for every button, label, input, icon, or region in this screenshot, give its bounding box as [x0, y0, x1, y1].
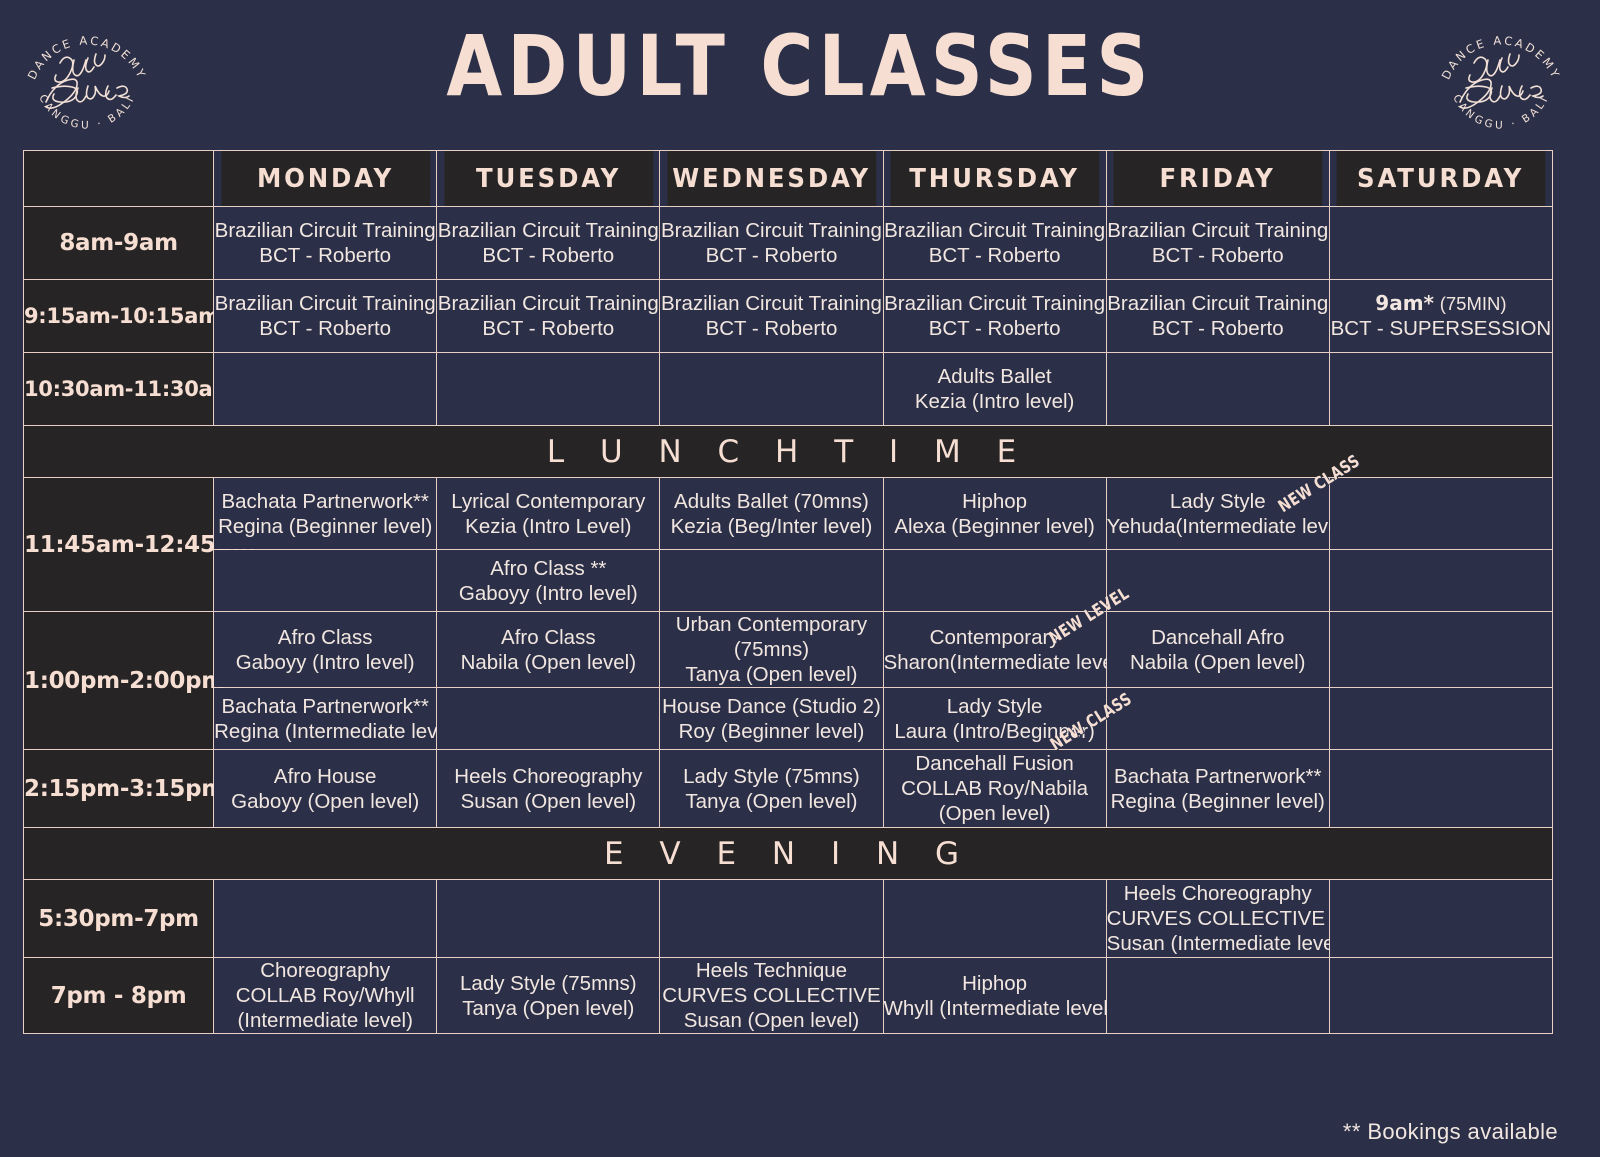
class-title: Contemporary — [884, 625, 1106, 650]
class-title: Bachata Partnerwork** — [1107, 764, 1329, 789]
class-cell-empty — [437, 880, 660, 958]
class-teacher: BCT - Roberto — [884, 243, 1106, 268]
poster-header: DANCE ACADEMY CANGGU · BALI — [0, 0, 1600, 150]
class-title: Brazilian Circuit Training — [660, 218, 882, 243]
day-header-friday: FRIDAY — [1113, 151, 1323, 207]
class-title: Hiphop — [884, 489, 1106, 514]
class-teacher: BCT - Roberto — [1107, 316, 1329, 341]
class-level: (Intermediate level) — [214, 1008, 436, 1033]
class-teacher: BCT - SUPERSESSION — [1330, 316, 1552, 341]
class-cell-empty — [1329, 207, 1552, 280]
table-row: Afro Class ** Gaboyy (Intro level) — [24, 550, 1553, 612]
class-title: Choreography — [214, 958, 436, 983]
class-teacher: BCT - Roberto — [437, 243, 659, 268]
table-row: 8am-9am Brazilian Circuit Training BCT -… — [24, 207, 1553, 280]
class-cell-empty — [1329, 958, 1552, 1034]
class-cell-empty — [1329, 880, 1552, 958]
class-teacher: Tanya (Open level) — [660, 662, 882, 687]
class-duration: (75mns) — [660, 637, 882, 662]
corner-cell — [24, 151, 214, 207]
time-label-1145am: 11:45am-12:45pm — [24, 478, 214, 612]
table-row: 7pm - 8pm Choreography COLLAB Roy/Whyll … — [24, 958, 1553, 1034]
class-cell-empty — [1329, 478, 1552, 550]
class-title: Brazilian Circuit Training — [214, 291, 436, 316]
table-row: 1:00pm-2:00pm Afro Class Gaboyy (Intro l… — [24, 612, 1553, 688]
class-cell-empty — [214, 880, 437, 958]
class-cell[interactable]: Lyrical Contemporary Kezia (Intro Level) — [437, 478, 660, 550]
class-title: Adults Ballet — [884, 364, 1106, 389]
class-cell[interactable]: Adults Ballet Kezia (Intro level) — [883, 353, 1106, 426]
class-cell[interactable]: Hiphop Whyll (Intermediate level) — [883, 958, 1106, 1034]
class-teacher: Kezia (Intro Level) — [437, 514, 659, 539]
class-cell[interactable]: NEW LEVEL Contemporary Sharon(Intermedia… — [883, 612, 1106, 688]
class-title: Bachata Partnerwork** — [214, 489, 436, 514]
time-label-100pm: 1:00pm-2:00pm — [24, 612, 214, 750]
class-title: Brazilian Circuit Training — [437, 291, 659, 316]
class-cell-empty — [660, 550, 883, 612]
class-title: Lady Style — [884, 694, 1106, 719]
day-header-thursday: THURSDAY — [890, 151, 1100, 207]
class-title: Brazilian Circuit Training — [1107, 218, 1329, 243]
class-teacher: Nabila (Open level) — [437, 650, 659, 675]
class-cell-empty — [1329, 550, 1552, 612]
table-row: 2:15pm-3:15pm Afro House Gaboyy (Open le… — [24, 750, 1553, 828]
class-teacher: Gaboyy (Intro level) — [214, 650, 436, 675]
class-teacher: Tanya (Open level) — [660, 789, 882, 814]
class-cell[interactable]: Heels Technique CURVES COLLECTIVE Susan … — [660, 958, 883, 1034]
class-cell[interactable]: Dancehall Afro Nabila (Open level) — [1106, 612, 1329, 688]
class-cell[interactable]: Adults Ballet (70mns) Kezia (Beg/Inter l… — [660, 478, 883, 550]
class-start-time: 9am* — [1375, 291, 1434, 315]
class-cell[interactable]: House Dance (Studio 2) Roy (Beginner lev… — [660, 688, 883, 750]
class-title: Urban Contemporary — [660, 612, 882, 637]
class-level: (Open level) — [884, 801, 1106, 826]
class-teacher: Sharon(Intermediate level) — [884, 650, 1106, 675]
class-cell[interactable]: NEW CLASS Lady Style Laura (Intro/Beginn… — [883, 688, 1106, 750]
class-cell-empty — [1106, 958, 1329, 1034]
class-cell[interactable]: Lady Style (75mns) Tanya (Open level) — [660, 750, 883, 828]
day-header-wednesday: WEDNESDAY — [667, 151, 877, 207]
class-cell-empty — [1329, 688, 1552, 750]
class-cell[interactable]: Brazilian Circuit Training BCT - Roberto — [1106, 280, 1329, 353]
class-cell[interactable]: Brazilian Circuit Training BCT - Roberto — [883, 207, 1106, 280]
class-teacher: COLLAB Roy/Nabila — [884, 776, 1106, 801]
class-teacher: Laura (Intro/Beginner) — [884, 719, 1106, 744]
class-title: Heels Choreography — [437, 764, 659, 789]
class-cell[interactable]: Dancehall Fusion COLLAB Roy/Nabila (Open… — [883, 750, 1106, 828]
class-teacher: BCT - Roberto — [1107, 243, 1329, 268]
class-title: Lady Style (75mns) — [660, 764, 882, 789]
class-cell-empty — [437, 688, 660, 750]
class-teacher: BCT - Roberto — [660, 243, 882, 268]
class-cell-empty — [437, 353, 660, 426]
class-title: Lady Style — [1107, 489, 1329, 514]
class-cell[interactable]: Brazilian Circuit Training BCT - Roberto — [437, 280, 660, 353]
table-row: 10:30am-11:30am Adults Ballet Kezia (Int… — [24, 353, 1553, 426]
class-teacher: Gaboyy (Open level) — [214, 789, 436, 814]
class-title: Brazilian Circuit Training — [884, 291, 1106, 316]
class-title: Afro Class — [214, 625, 436, 650]
class-title: Heels Choreography — [1107, 881, 1329, 906]
class-teacher: BCT - Roberto — [214, 316, 436, 341]
class-title: Lyrical Contemporary — [437, 489, 659, 514]
class-title: Bachata Partnerwork** — [214, 694, 436, 719]
evening-banner-row: E V E N I N G — [24, 828, 1553, 880]
class-title: Brazilian Circuit Training — [214, 218, 436, 243]
table-header-row: MONDAY TUESDAY WEDNESDAY THURSDAY FRIDAY… — [24, 151, 1553, 207]
class-cell[interactable]: Brazilian Circuit Training BCT - Roberto — [214, 207, 437, 280]
class-teacher: BCT - Roberto — [214, 243, 436, 268]
time-label-8am: 8am-9am — [24, 207, 214, 280]
class-cell[interactable]: Brazilian Circuit Training BCT - Roberto — [660, 207, 883, 280]
class-cell[interactable]: 9am* (75MIN) BCT - SUPERSESSION — [1329, 280, 1552, 353]
class-collective: CURVES COLLECTIVE (90mns) — [1107, 906, 1329, 931]
class-title: Afro House — [214, 764, 436, 789]
logo-right: DANCE ACADEMY CANGGU · BALI — [1430, 8, 1572, 148]
class-cell[interactable]: Brazilian Circuit Training BCT - Roberto — [437, 207, 660, 280]
class-cell[interactable]: Bachata Partnerwork** Regina (Beginner l… — [214, 478, 437, 550]
class-cell[interactable]: Heels Choreography CURVES COLLECTIVE (90… — [1106, 880, 1329, 958]
class-teacher: Susan (Open level) — [660, 1008, 882, 1033]
class-teacher: Susan (Open level) — [437, 789, 659, 814]
class-cell-empty — [1106, 688, 1329, 750]
class-cell-empty — [1106, 550, 1329, 612]
class-teacher: Alexa (Beginner level) — [884, 514, 1106, 539]
class-title: Lady Style (75mns) — [437, 971, 659, 996]
page-title: ADULT CLASSES — [112, 14, 1488, 118]
class-cell[interactable]: Lady Style (75mns) Tanya (Open level) — [437, 958, 660, 1034]
day-header-monday: MONDAY — [220, 151, 430, 207]
class-title: Brazilian Circuit Training — [1107, 291, 1329, 316]
class-cell[interactable]: NEW CLASS Lady Style Yehuda(Intermediate… — [1106, 478, 1329, 550]
class-title: Hiphop — [884, 971, 1106, 996]
time-label-530pm: 5:30pm-7pm — [24, 880, 214, 958]
class-teacher: Gaboyy (Intro level) — [437, 581, 659, 606]
svg-text:CANGGU · BALI: CANGGU · BALI — [1450, 93, 1551, 132]
schedule-poster: DANCE ACADEMY CANGGU · BALI — [0, 0, 1600, 1157]
time-label-215pm: 2:15pm-3:15pm — [24, 750, 214, 828]
time-label-700pm: 7pm - 8pm — [24, 958, 214, 1034]
class-teacher: Susan (Intermediate level) — [1107, 931, 1329, 956]
class-title: Dancehall Fusion — [884, 751, 1106, 776]
table-row: 5:30pm-7pm Heels Choreography CURVES COL… — [24, 880, 1553, 958]
class-teacher: Nabila (Open level) — [1107, 650, 1329, 675]
class-cell[interactable]: Bachata Partnerwork** Regina (Intermedia… — [214, 688, 437, 750]
class-cell-empty — [1329, 750, 1552, 828]
class-teacher: Regina (Beginner level) — [1107, 789, 1329, 814]
class-cell[interactable]: Afro Class Gaboyy (Intro level) — [214, 612, 437, 688]
class-teacher: Tanya (Open level) — [437, 996, 659, 1021]
class-cell[interactable]: Bachata Partnerwork** Regina (Beginner l… — [1106, 750, 1329, 828]
table-row: 9:15am-10:15am Brazilian Circuit Trainin… — [24, 280, 1553, 353]
class-title: Adults Ballet (70mns) — [660, 489, 882, 514]
class-teacher: COLLAB Roy/Whyll — [214, 983, 436, 1008]
class-title: Dancehall Afro — [1107, 625, 1329, 650]
class-cell[interactable]: Hiphop Alexa (Beginner level) — [883, 478, 1106, 550]
day-header-tuesday: TUESDAY — [443, 151, 653, 207]
bookings-footnote: ** Bookings available — [1343, 1119, 1558, 1145]
class-cell[interactable]: Brazilian Circuit Training BCT - Roberto — [883, 280, 1106, 353]
class-collective: CURVES COLLECTIVE — [660, 983, 882, 1008]
lunch-banner-row: L U N C H T I M E — [24, 426, 1553, 478]
class-title: Afro Class — [437, 625, 659, 650]
time-label-1030am: 10:30am-11:30am — [24, 353, 214, 426]
class-cell[interactable]: Brazilian Circuit Training BCT - Roberto — [660, 280, 883, 353]
table-row: 11:45am-12:45pm Bachata Partnerwork** Re… — [24, 478, 1553, 550]
time-label-915am: 9:15am-10:15am — [24, 280, 214, 353]
class-cell[interactable]: Brazilian Circuit Training BCT - Roberto — [1106, 207, 1329, 280]
class-teacher: Regina (Intermediate level) — [214, 719, 436, 744]
class-teacher: Kezia (Intro level) — [884, 389, 1106, 414]
class-cell[interactable]: Afro House Gaboyy (Open level) — [214, 750, 437, 828]
class-cell-empty — [1106, 353, 1329, 426]
day-header-saturday: SATURDAY — [1336, 151, 1546, 207]
class-cell-empty — [214, 550, 437, 612]
schedule-table: MONDAY TUESDAY WEDNESDAY THURSDAY FRIDAY… — [23, 150, 1553, 1034]
class-cell[interactable]: Heels Choreography Susan (Open level) — [437, 750, 660, 828]
evening-banner: E V E N I N G — [24, 828, 1553, 880]
class-title: Afro Class ** — [437, 556, 659, 581]
class-teacher: BCT - Roberto — [437, 316, 659, 341]
class-teacher: Whyll (Intermediate level) — [884, 996, 1106, 1021]
class-teacher: Kezia (Beg/Inter level) — [660, 514, 882, 539]
class-cell-empty — [214, 353, 437, 426]
class-teacher: Roy (Beginner level) — [660, 719, 882, 744]
class-cell[interactable]: Urban Contemporary (75mns) Tanya (Open l… — [660, 612, 883, 688]
class-cell-empty — [1329, 612, 1552, 688]
class-cell[interactable]: Afro Class ** Gaboyy (Intro level) — [437, 550, 660, 612]
lunch-time-banner: L U N C H T I M E — [24, 426, 1553, 478]
class-teacher: BCT - Roberto — [884, 316, 1106, 341]
class-title: House Dance (Studio 2) — [660, 694, 882, 719]
table-row: Bachata Partnerwork** Regina (Intermedia… — [24, 688, 1553, 750]
svg-text:DANCE ACADEMY: DANCE ACADEMY — [1439, 33, 1564, 81]
class-teacher: BCT - Roberto — [660, 316, 882, 341]
class-title: Brazilian Circuit Training — [437, 218, 659, 243]
class-cell-empty — [883, 880, 1106, 958]
class-title: Brazilian Circuit Training — [884, 218, 1106, 243]
class-teacher: Yehuda(Intermediate level) — [1107, 514, 1329, 539]
class-cell-empty — [660, 880, 883, 958]
class-cell-empty — [883, 550, 1106, 612]
class-cell-empty — [1329, 353, 1552, 426]
class-cell[interactable]: Brazilian Circuit Training BCT - Roberto — [214, 280, 437, 353]
class-title: Heels Technique — [660, 958, 882, 983]
class-cell[interactable]: Afro Class Nabila (Open level) — [437, 612, 660, 688]
class-cell[interactable]: Choreography COLLAB Roy/Whyll (Intermedi… — [214, 958, 437, 1034]
class-duration: (75MIN) — [1440, 293, 1507, 314]
class-teacher: Regina (Beginner level) — [214, 514, 436, 539]
class-title: Brazilian Circuit Training — [660, 291, 882, 316]
class-cell-empty — [660, 353, 883, 426]
